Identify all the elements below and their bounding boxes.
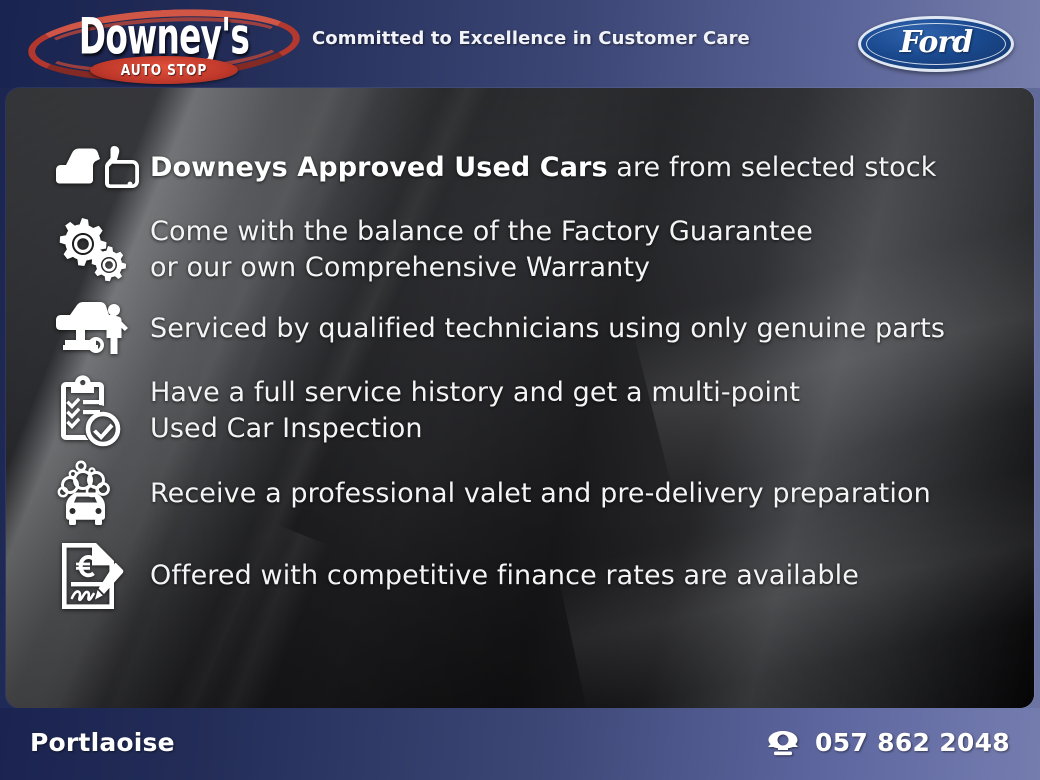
feature-text-2-line-1: Come with the balance of the Factory Gua… xyxy=(150,214,813,250)
list-item: Receive a professional valet and pre-del… xyxy=(46,460,1034,528)
feature-text-4-line-2: Used Car Inspection xyxy=(150,411,800,447)
footer-bar: Portlaoise 057 862 2048 xyxy=(0,708,1040,780)
list-item: Come with the balance of the Factory Gua… xyxy=(46,214,1034,287)
car-on-lift-technician-icon xyxy=(46,295,150,363)
feature-text-3: Serviced by qualified technicians using … xyxy=(150,311,945,347)
list-item: Downeys Approved Used Cars are from sele… xyxy=(46,134,1034,202)
feature-card: Downeys Approved Used Cars are from sele… xyxy=(6,88,1034,708)
feature-text-1-rest: are from selected stock xyxy=(608,152,937,183)
gears-icon xyxy=(46,216,150,284)
phone-number[interactable]: 057 862 2048 xyxy=(815,728,1010,757)
ford-logo[interactable]: Ford xyxy=(858,16,1014,72)
feature-text-5: Receive a professional valet and pre-del… xyxy=(150,476,931,512)
feature-text-1-strong: Downeys Approved Used Cars xyxy=(150,152,608,183)
poster-root: Downey's AUTO STOP Committed to Excellen… xyxy=(0,0,1040,780)
logo-sub-text: AUTO STOP xyxy=(103,56,224,84)
feature-text-4-line-1: Have a full service history and get a mu… xyxy=(150,375,800,411)
feature-text-1: Downeys Approved Used Cars are from sele… xyxy=(150,150,936,186)
euro-document-pen-icon xyxy=(46,542,150,610)
phone-group[interactable]: 057 862 2048 xyxy=(765,728,1010,757)
list-item: Have a full service history and get a mu… xyxy=(46,375,1034,448)
header-tagline: Committed to Excellence in Customer Care xyxy=(312,28,750,49)
car-thumbs-up-icon xyxy=(46,134,150,202)
feature-text-2: Come with the balance of the Factory Gua… xyxy=(150,214,813,287)
header-bar: Downey's AUTO STOP Committed to Excellen… xyxy=(0,0,1040,88)
clipboard-checklist-icon xyxy=(46,377,150,445)
feature-text-2-line-2: or our own Comprehensive Warranty xyxy=(150,250,813,286)
list-item: Serviced by qualified technicians using … xyxy=(46,295,1034,363)
logo-sub-pill: AUTO STOP xyxy=(90,56,238,84)
ford-wordmark: Ford xyxy=(858,16,1014,72)
telephone-icon xyxy=(765,729,801,757)
car-wash-icon xyxy=(46,460,150,528)
list-item: Offered with competitive finance rates a… xyxy=(46,542,1034,610)
feature-text-6: Offered with competitive finance rates a… xyxy=(150,558,859,594)
downeys-logo[interactable]: Downey's AUTO STOP xyxy=(28,4,300,86)
branch-name: Portlaoise xyxy=(30,728,175,757)
feature-text-4: Have a full service history and get a mu… xyxy=(150,375,800,448)
feature-list: Downeys Approved Used Cars are from sele… xyxy=(6,88,1034,708)
